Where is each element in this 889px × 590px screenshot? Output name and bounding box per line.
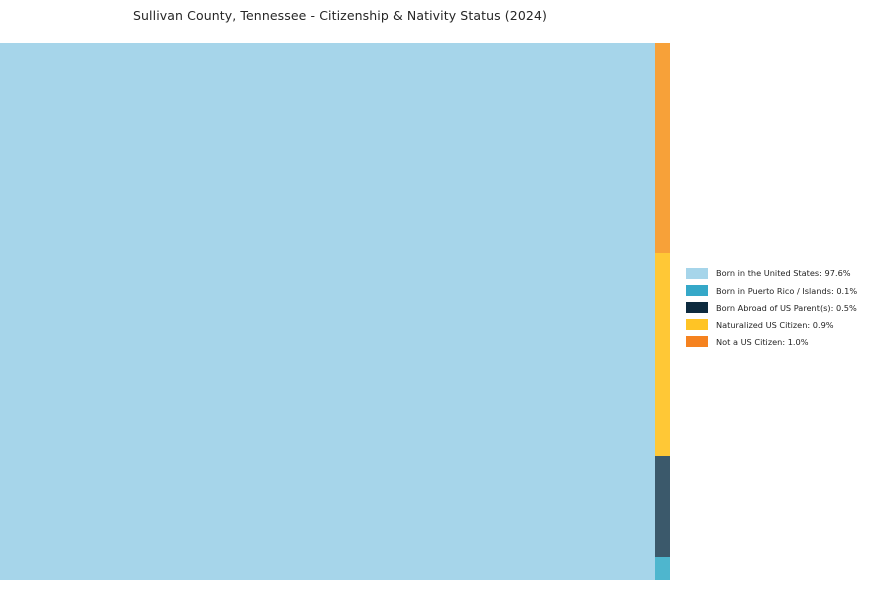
legend-label: Not a US Citizen: 1.0% xyxy=(716,338,809,346)
legend-entry: Not a US Citizen: 1.0% xyxy=(686,333,881,350)
legend-entry: Born Abroad of US Parent(s): 0.5% xyxy=(686,299,881,316)
legend-swatch xyxy=(686,268,708,279)
treemap-plot-area xyxy=(0,43,670,580)
legend-entry: Naturalized US Citizen: 0.9% xyxy=(686,316,881,333)
legend-swatch xyxy=(686,336,708,347)
legend-swatch xyxy=(686,319,708,330)
legend-label: Naturalized US Citizen: 0.9% xyxy=(716,321,834,329)
legend-entry: Born in the United States: 97.6% xyxy=(686,265,881,282)
legend-label: Born Abroad of US Parent(s): 0.5% xyxy=(716,304,857,312)
treemap-tile xyxy=(655,557,670,580)
chart-legend: Born in the United States: 97.6%Born in … xyxy=(686,265,881,350)
treemap-tile xyxy=(655,253,670,456)
chart-title: Sullivan County, Tennessee - Citizenship… xyxy=(0,8,680,23)
treemap-tile xyxy=(655,456,670,557)
treemap-figure: Sullivan County, Tennessee - Citizenship… xyxy=(0,0,889,590)
treemap-tile xyxy=(655,43,670,253)
treemap-tile xyxy=(0,43,655,580)
legend-label: Born in Puerto Rico / Islands: 0.1% xyxy=(716,287,857,295)
legend-swatch xyxy=(686,285,708,296)
legend-entry: Born in Puerto Rico / Islands: 0.1% xyxy=(686,282,881,299)
legend-label: Born in the United States: 97.6% xyxy=(716,269,851,277)
legend-swatch xyxy=(686,302,708,313)
